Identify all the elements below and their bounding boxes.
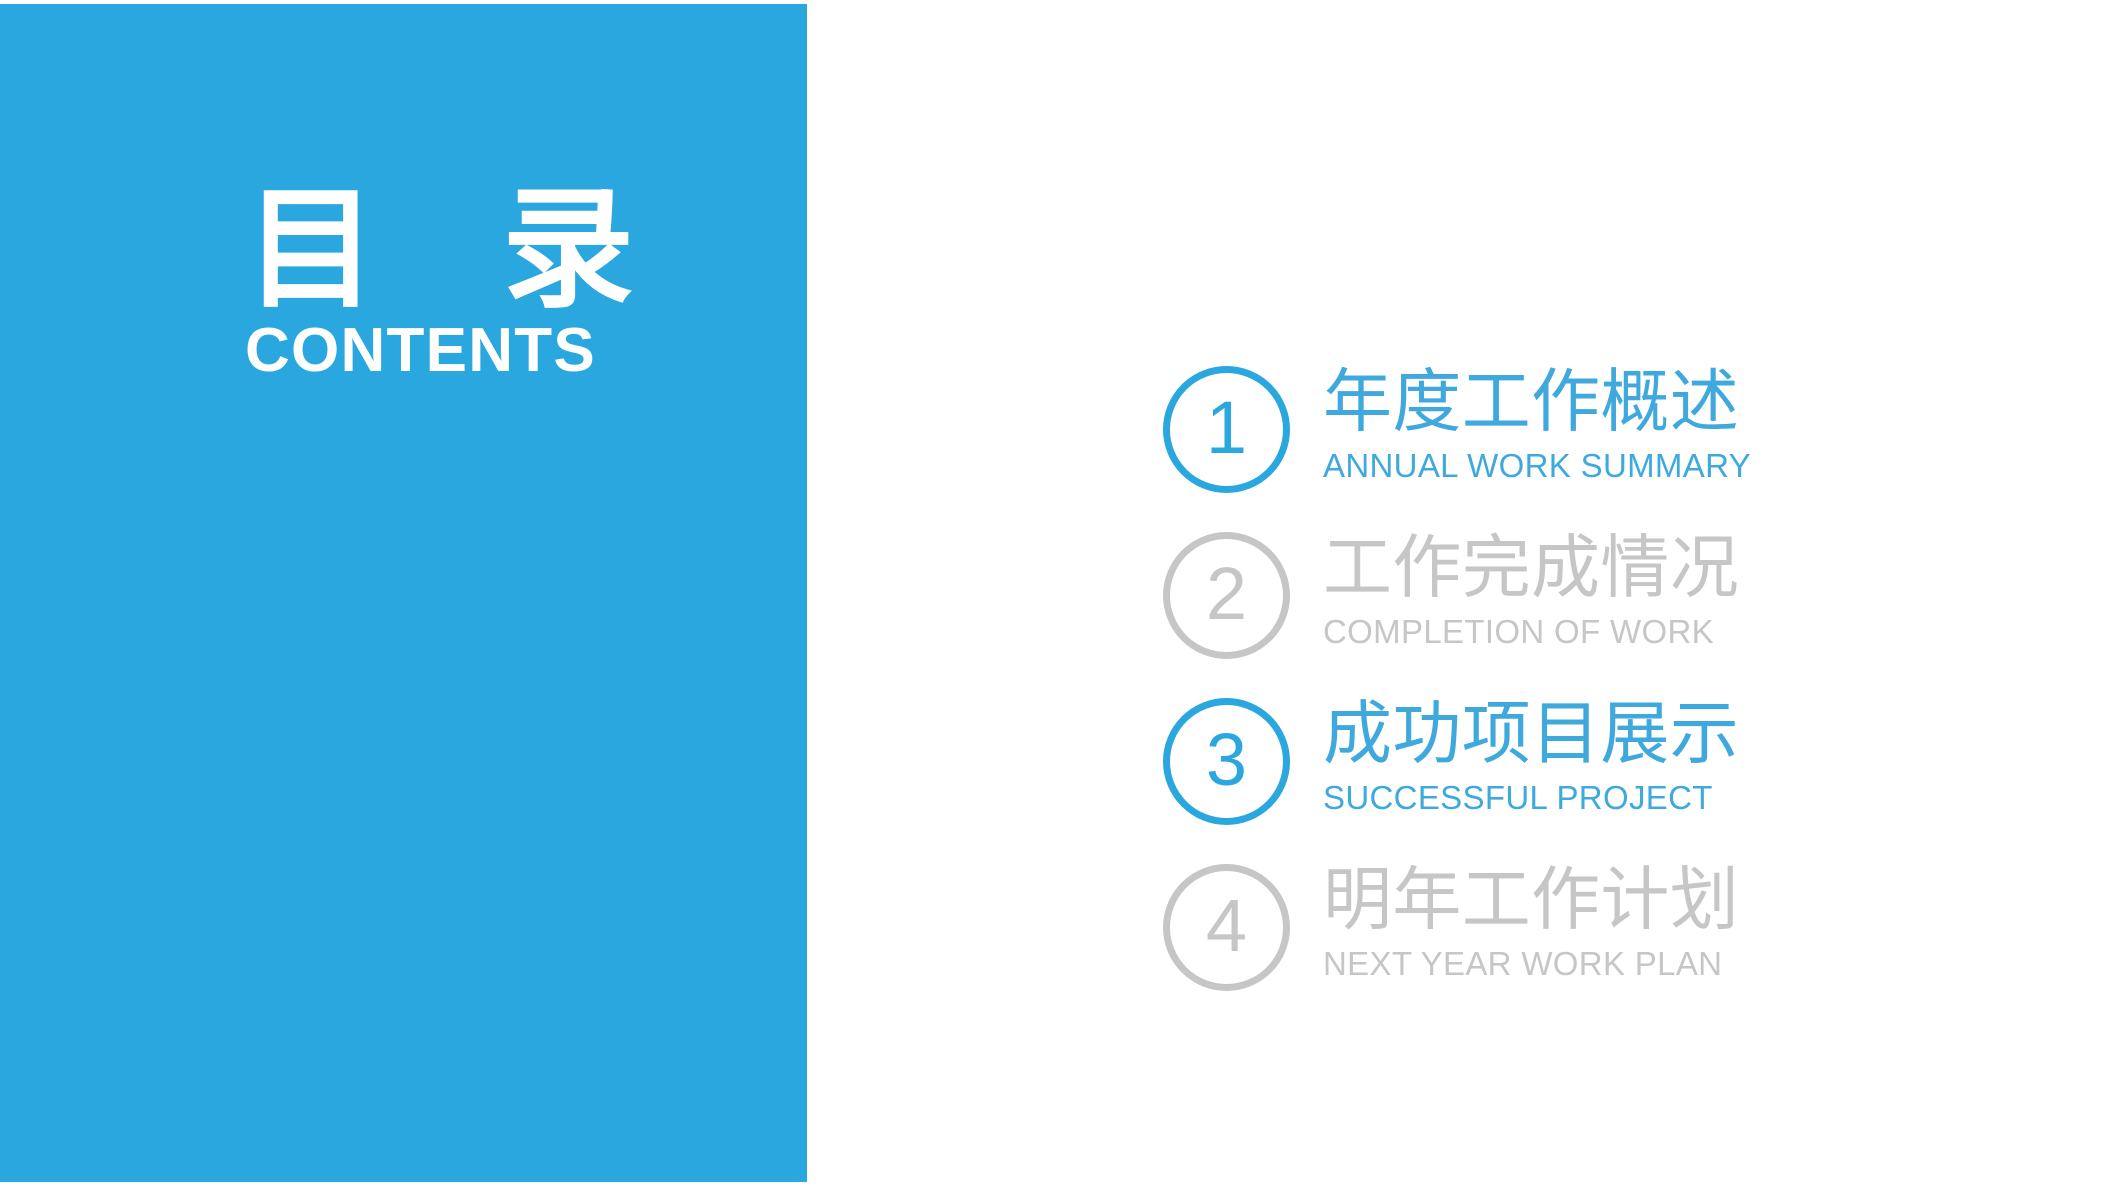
contents-item-title-chinese: 明年工作计划 [1323, 866, 1739, 935]
contents-item-title-english: ANNUAL WORK SUMMARY [1323, 449, 1751, 482]
contents-item-text: 明年工作计划 NEXT YEAR WORK PLAN [1323, 864, 1739, 980]
contents-item-title-chinese: 工作完成情况 [1323, 534, 1739, 603]
number-circle-icon: 3 [1163, 698, 1290, 825]
item-number: 3 [1206, 723, 1247, 797]
contents-item-text: 成功项目展示 SUCCESSFUL PROJECT [1323, 698, 1739, 814]
page-title-chinese: 目 录 [245, 184, 675, 316]
number-circle-icon: 4 [1163, 864, 1290, 991]
number-circle-icon: 1 [1163, 366, 1290, 493]
contents-slide: 目 录 CONTENTS 1 年度工作概述 ANNUAL WORK SUMMAR… [0, 0, 2109, 1186]
contents-item-title-chinese: 年度工作概述 [1323, 368, 1751, 437]
title-block: 目 录 CONTENTS [245, 184, 675, 382]
contents-item-3[interactable]: 3 成功项目展示 SUCCESSFUL PROJECT [1163, 698, 2023, 864]
contents-item-text: 工作完成情况 COMPLETION OF WORK [1323, 532, 1739, 648]
contents-item-title-chinese: 成功项目展示 [1323, 700, 1739, 769]
number-circle-icon: 2 [1163, 532, 1290, 659]
left-blue-panel: 目 录 CONTENTS [0, 4, 807, 1182]
contents-item-text: 年度工作概述 ANNUAL WORK SUMMARY [1323, 366, 1751, 482]
contents-item-title-english: SUCCESSFUL PROJECT [1323, 781, 1739, 814]
contents-item-title-english: NEXT YEAR WORK PLAN [1323, 947, 1739, 980]
contents-item-1[interactable]: 1 年度工作概述 ANNUAL WORK SUMMARY [1163, 366, 2023, 532]
page-title-english: CONTENTS [245, 320, 675, 382]
item-number: 2 [1206, 557, 1247, 631]
contents-list: 1 年度工作概述 ANNUAL WORK SUMMARY 2 工作完成情况 CO… [1163, 366, 2023, 1030]
contents-item-title-english: COMPLETION OF WORK [1323, 615, 1739, 648]
contents-item-2[interactable]: 2 工作完成情况 COMPLETION OF WORK [1163, 532, 2023, 698]
contents-item-4[interactable]: 4 明年工作计划 NEXT YEAR WORK PLAN [1163, 864, 2023, 1030]
item-number: 4 [1206, 889, 1247, 963]
item-number: 1 [1206, 391, 1247, 465]
